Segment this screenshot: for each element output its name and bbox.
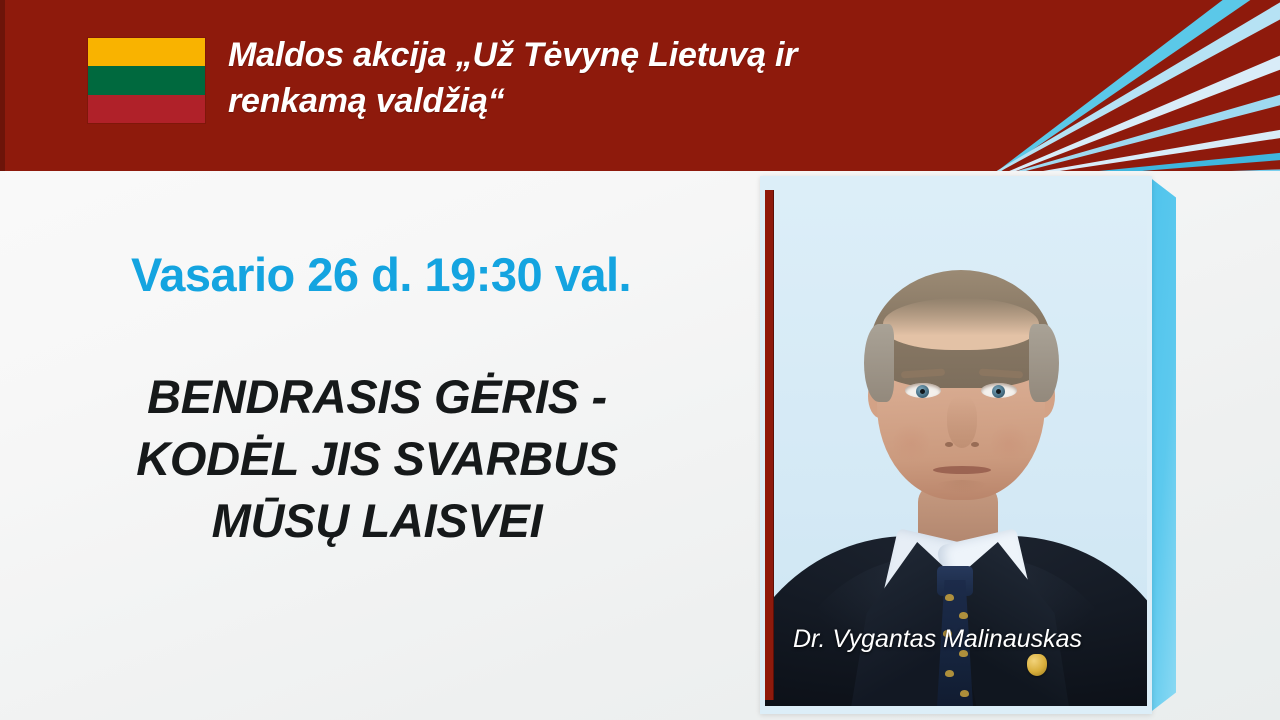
speaker-photo-card: Dr. Vygantas Malinauskas (760, 176, 1152, 714)
page-title: BENDRASIS GĖRIS - KODĖL JIS SVARBUS MŪSŲ… (26, 366, 728, 552)
page-title-line-3: MŪSŲ LAISVEI (26, 490, 728, 552)
speaker-photo: Dr. Vygantas Malinauskas (765, 184, 1147, 706)
portrait-chin (925, 480, 999, 506)
flag-stripe-red (88, 95, 205, 123)
portrait-lapel-pin (1027, 654, 1047, 676)
photo-accent-bar (765, 190, 774, 700)
portrait-nose (947, 396, 977, 448)
header-title-line-2: renkamą valdžią“ (228, 79, 918, 125)
portrait-hair-side-right (1029, 324, 1059, 402)
portrait-nostril-left (945, 442, 953, 447)
page-title-line-2: KODĖL JIS SVARBUS (26, 428, 728, 490)
page-title-line-1: BENDRASIS GĖRIS - (26, 366, 728, 428)
speaker-name-caption: Dr. Vygantas Malinauskas (793, 624, 1133, 654)
portrait-mouth (933, 466, 991, 474)
portrait-nostril-right (971, 442, 979, 447)
event-date-time: Vasario 26 d. 19:30 val. (131, 249, 631, 301)
header-left-edge (0, 0, 5, 171)
flag-stripe-green (88, 66, 205, 94)
portrait-forehead (883, 298, 1039, 350)
header-banner: Maldos akcija „Už Tėvynę Lietuvą ir renk… (0, 0, 1280, 171)
flag-stripe-yellow (88, 38, 205, 66)
presentation-slide: Maldos akcija „Už Tėvynę Lietuvą ir renk… (0, 0, 1280, 720)
portrait-cheek-right (991, 420, 1027, 466)
portrait-pupil-right (996, 389, 1001, 394)
photo-frame-edge (1148, 176, 1176, 714)
portrait-hair-side-left (864, 324, 894, 402)
portrait-cheek-left (893, 420, 929, 466)
lithuania-flag-icon (88, 38, 205, 123)
header-title: Maldos akcija „Už Tėvynę Lietuvą ir renk… (228, 33, 918, 124)
portrait-pupil-left (920, 389, 925, 394)
header-title-line-1: Maldos akcija „Už Tėvynę Lietuvą ir (228, 33, 918, 79)
